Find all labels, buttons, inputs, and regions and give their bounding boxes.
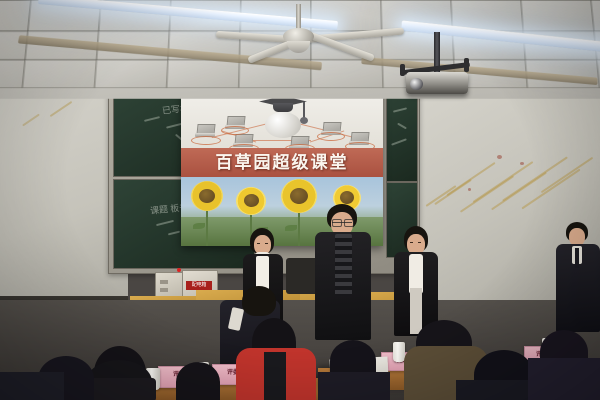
presenter-right — [392, 226, 440, 336]
blackboard-panel-right — [386, 88, 418, 182]
presenter-center — [315, 204, 371, 340]
graduation-cap-base — [273, 103, 293, 112]
panel-indicator-led — [177, 268, 181, 272]
projector-lens — [410, 78, 423, 90]
wall-stain — [520, 162, 524, 165]
slide-title: 百草园超级课堂 — [181, 149, 383, 177]
attendee-head — [176, 362, 220, 400]
attendee-inner-top — [264, 352, 286, 400]
attendee-shoulders — [528, 358, 600, 400]
attendee-standing-right — [556, 222, 600, 332]
globe-icon — [265, 112, 301, 138]
wall-stain — [497, 155, 502, 159]
fan-rod — [296, 4, 301, 30]
wall-stain — [468, 188, 471, 191]
classroom-photo: 已写板书 课题 板书 — [0, 0, 600, 400]
tassel-ball — [300, 117, 308, 124]
tassel — [303, 102, 305, 118]
attendee-shoulders — [86, 378, 156, 400]
panel-label: 配电箱 — [186, 281, 212, 290]
attendee-shoulders — [0, 372, 64, 400]
attendee-shoulders — [318, 372, 390, 400]
